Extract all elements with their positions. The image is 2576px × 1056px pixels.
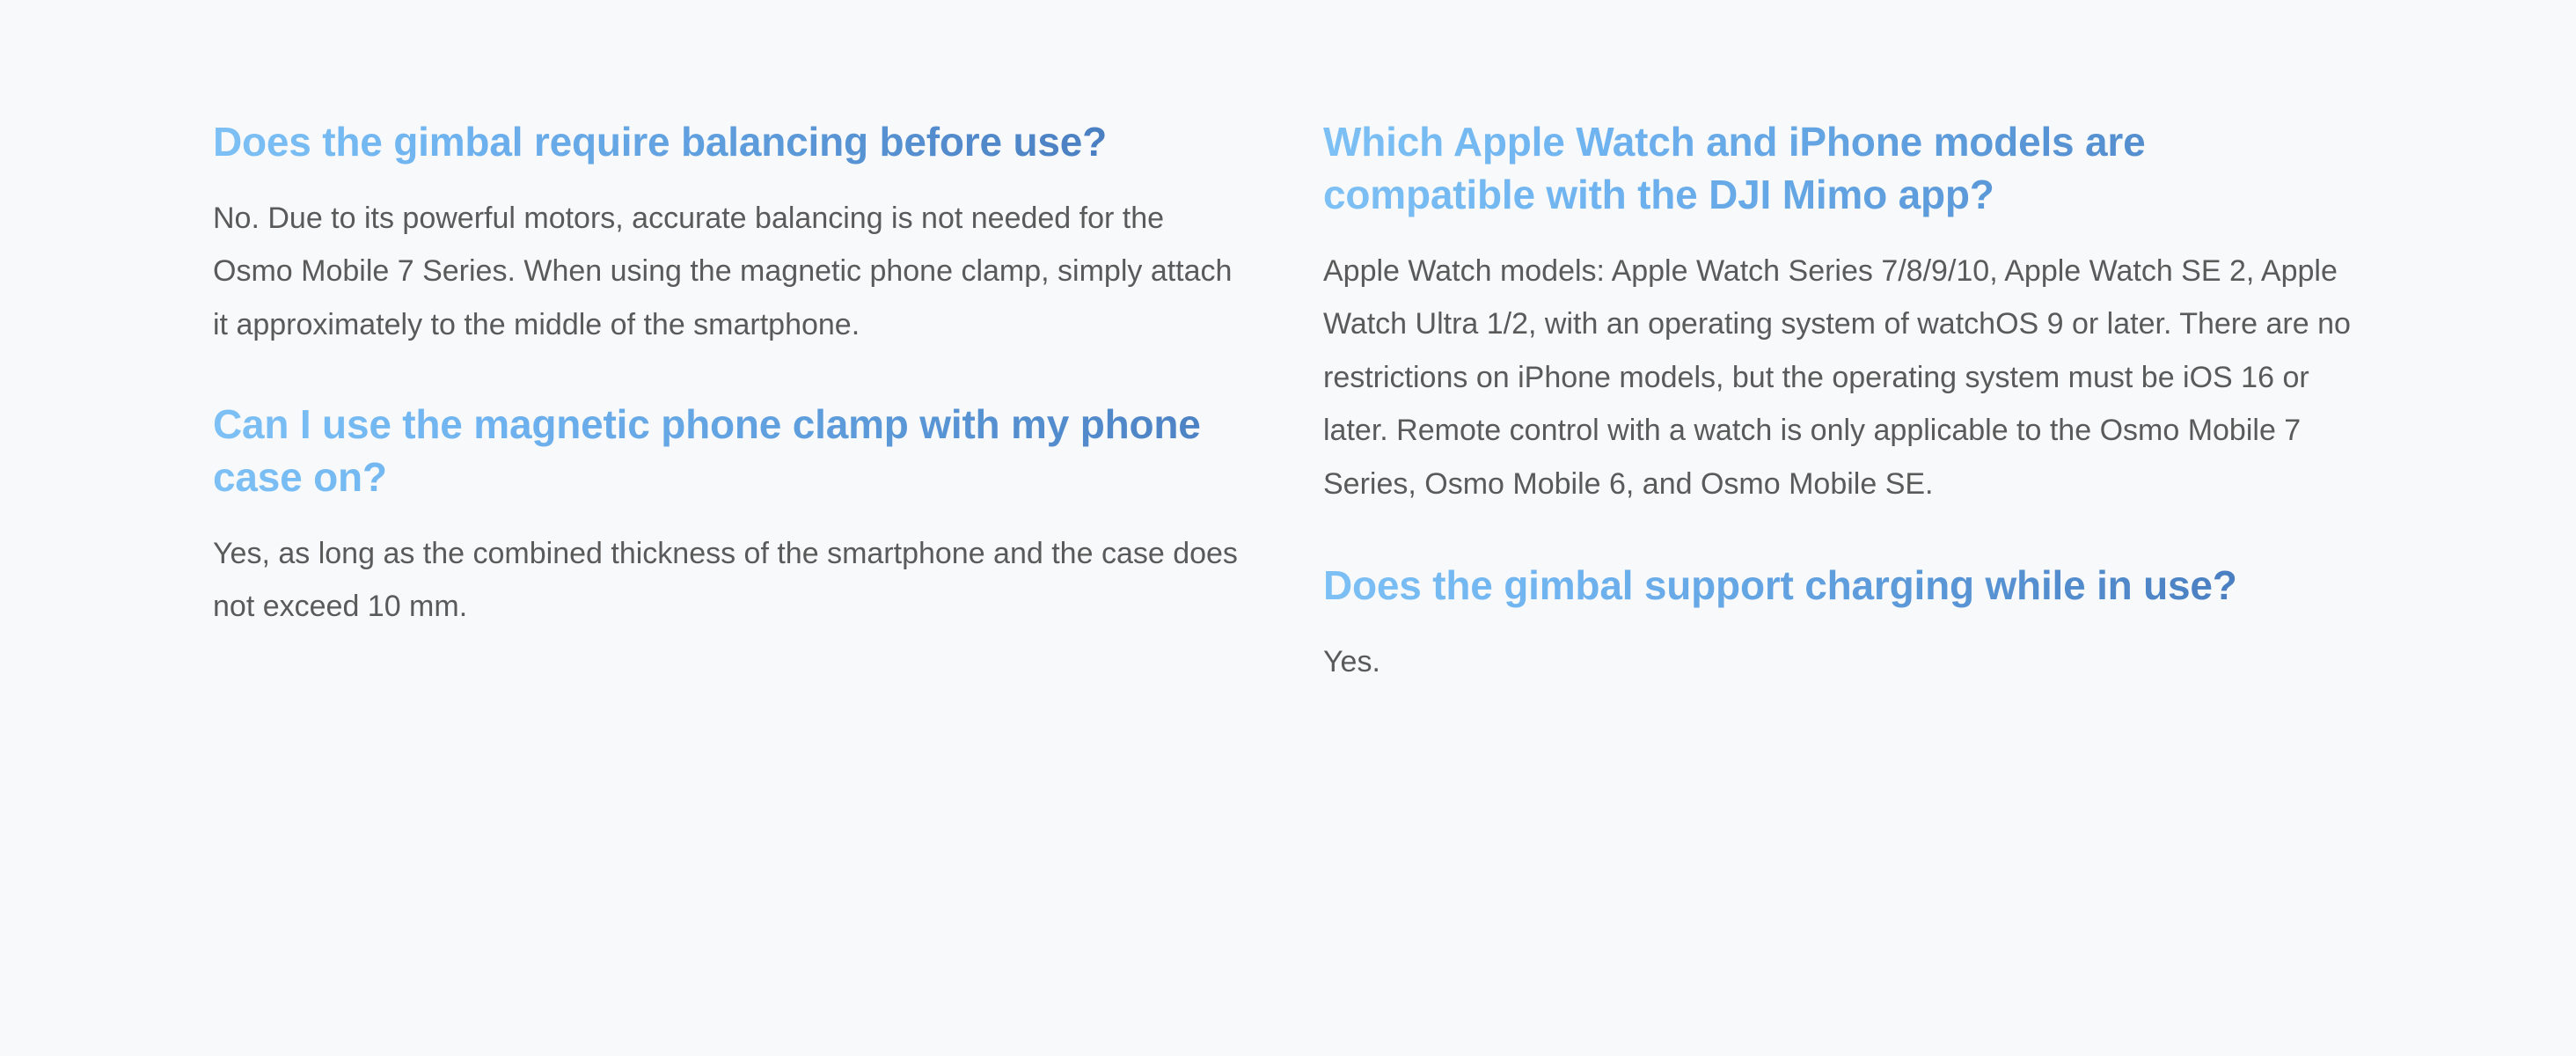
faq-item: Can I use the magnetic phone clamp with … <box>213 399 1251 634</box>
faq-column-left: Does the gimbal require balancing before… <box>213 116 1251 634</box>
faq-question: Does the gimbal support charging while i… <box>1323 560 2237 612</box>
faq-columns: Does the gimbal require balancing before… <box>213 116 2367 688</box>
faq-item: Does the gimbal require balancing before… <box>213 116 1251 351</box>
faq-item: Which Apple Watch and iPhone models are … <box>1323 116 2361 510</box>
faq-question: Can I use the magnetic phone clamp with … <box>213 399 1251 504</box>
faq-answer: Yes, as long as the combined thickness o… <box>213 527 1251 634</box>
faq-question: Which Apple Watch and iPhone models are … <box>1323 116 2361 222</box>
faq-page: Does the gimbal require balancing before… <box>0 0 2576 1056</box>
faq-answer: No. Due to its powerful motors, accurate… <box>213 192 1251 352</box>
faq-answer: Yes. <box>1323 635 2361 689</box>
faq-item: Does the gimbal support charging while i… <box>1323 560 2361 688</box>
faq-column-right: Which Apple Watch and iPhone models are … <box>1323 116 2361 688</box>
faq-question: Does the gimbal require balancing before… <box>213 116 1107 169</box>
faq-answer: Apple Watch models: Apple Watch Series 7… <box>1323 245 2361 511</box>
